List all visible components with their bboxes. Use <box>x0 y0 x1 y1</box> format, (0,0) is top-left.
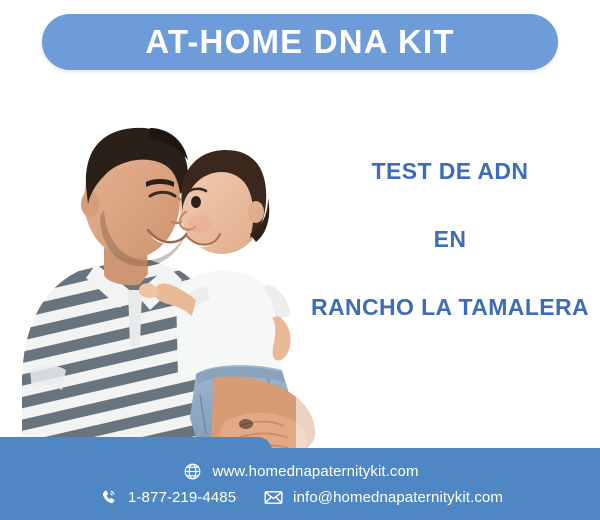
footer-contact-info: www.homednapaternitykit.com 1-877-219-44… <box>0 448 600 520</box>
website-item[interactable]: www.homednapaternitykit.com <box>181 460 418 482</box>
headline-line-1: TEST DE ADN <box>300 160 600 183</box>
email-text: info@homednapaternitykit.com <box>293 489 503 506</box>
headline-line-2: EN <box>300 228 600 251</box>
headline-line-3: RANCHO LA TAMALERA <box>300 296 600 319</box>
phone-icon <box>97 486 119 508</box>
title-banner: AT-HOME DNA KIT <box>42 14 558 70</box>
family-photo-illustration <box>0 78 330 458</box>
envelope-icon <box>262 486 284 508</box>
banner-title: AT-HOME DNA KIT <box>145 23 454 61</box>
footer-row-website: www.homednapaternitykit.com <box>181 460 418 482</box>
promotional-banner-image: AT-HOME DNA KIT <box>0 0 600 520</box>
website-text: www.homednapaternitykit.com <box>212 463 418 480</box>
headline-block: TEST DE ADN EN RANCHO LA TAMALERA <box>300 160 600 319</box>
phone-text: 1-877-219-4485 <box>128 489 236 506</box>
phone-item[interactable]: 1-877-219-4485 <box>97 486 236 508</box>
email-item[interactable]: info@homednapaternitykit.com <box>262 486 503 508</box>
footer-row-phone-email: 1-877-219-4485 info@homednapaternitykit.… <box>97 486 503 508</box>
family-photo <box>0 78 330 458</box>
globe-icon <box>181 460 203 482</box>
